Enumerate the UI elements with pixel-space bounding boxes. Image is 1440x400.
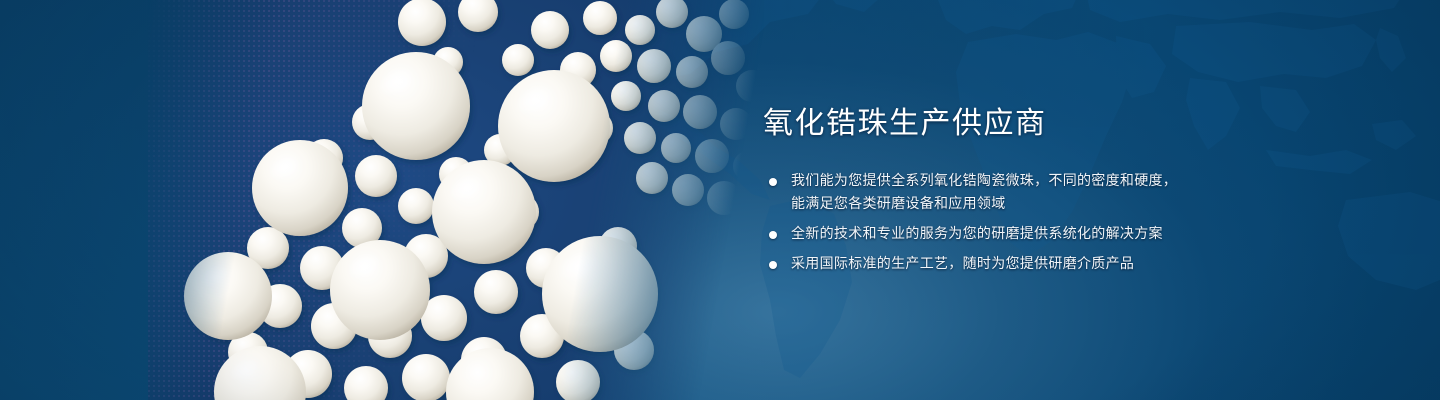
bullet-dot-icon [769, 261, 777, 269]
feature-bullet-list: 我们能为您提供全系列氧化锆陶瓷微珠，不同的密度和硬度， 能满足您各类研磨设备和应… [763, 170, 1323, 276]
bullet-dot-icon [769, 178, 777, 186]
bullet-text: 全新的技术和专业的服务为您的研磨提供系统化的解决方案 [791, 223, 1323, 246]
bullet-text: 采用国际标准的生产工艺，随时为您提供研磨介质产品 [791, 253, 1323, 276]
banner-copy: 氧化锆珠生产供应商 我们能为您提供全系列氧化锆陶瓷微珠，不同的密度和硬度， 能满… [763, 104, 1323, 276]
hero-banner: 氧化锆珠生产供应商 我们能为您提供全系列氧化锆陶瓷微珠，不同的密度和硬度， 能满… [0, 0, 1440, 400]
bead-cluster [148, 0, 764, 400]
page-title: 氧化锆珠生产供应商 [763, 104, 1323, 144]
bullet-dot-icon [769, 231, 777, 239]
bullet-text: 能满足您各类研磨设备和应用领域 [791, 193, 1323, 216]
zirconia-beads-photo [148, 0, 764, 400]
list-item: 全新的技术和专业的服务为您的研磨提供系统化的解决方案 [763, 223, 1323, 246]
list-item: 我们能为您提供全系列氧化锆陶瓷微珠，不同的密度和硬度， 能满足您各类研磨设备和应… [763, 170, 1323, 216]
list-item: 采用国际标准的生产工艺，随时为您提供研磨介质产品 [763, 253, 1323, 276]
bullet-text: 我们能为您提供全系列氧化锆陶瓷微珠，不同的密度和硬度， [791, 170, 1323, 193]
